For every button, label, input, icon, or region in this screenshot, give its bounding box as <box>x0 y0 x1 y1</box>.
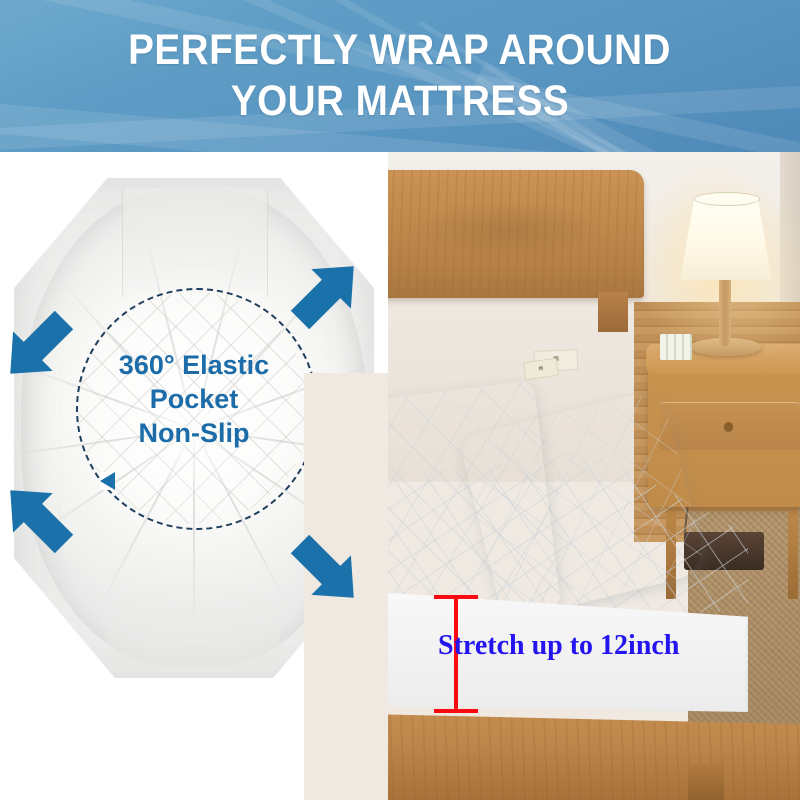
bed-leg <box>688 764 724 800</box>
stretch-label: Stretch up to 12inch <box>438 630 798 662</box>
wood-grain <box>414 200 604 260</box>
circle-label-line-1: 360° Elastic <box>14 348 374 382</box>
header-banner: PERFECTLY WRAP AROUND YOUR MATTRESS <box>0 0 800 152</box>
circle-label-line-3: Non-Slip <box>14 416 374 450</box>
measure-cap-bottom <box>434 709 478 713</box>
product-feature-image: PERFECTLY WRAP AROUND YOUR MATTRESS <box>0 0 800 800</box>
headline-line-2: YOUR MATTRESS <box>231 75 569 127</box>
drawer-knob-icon[interactable] <box>724 422 733 431</box>
circle-label-line-2: Pocket <box>14 382 374 416</box>
wooden-headboard <box>388 170 644 298</box>
lamp-stem <box>719 278 731 346</box>
lamp-shade <box>680 196 772 280</box>
headboard-post <box>598 292 628 332</box>
arrow-down-left-icon <box>0 470 84 563</box>
right-panel: 棉 棉 Stretch up to 12inch <box>388 152 800 800</box>
arrow-up-right-icon <box>280 246 373 339</box>
lamp-shade-top <box>694 192 760 206</box>
pillow-front <box>388 380 561 630</box>
headline-line-1: PERFECTLY WRAP AROUND <box>129 25 672 75</box>
nightstand-leg <box>788 504 798 599</box>
left-panel: 360° Elastic Pocket Non-Slip <box>0 152 388 800</box>
arrow-down-right-icon <box>280 524 373 617</box>
circle-label: 360° Elastic Pocket Non-Slip <box>14 348 374 450</box>
candles <box>660 334 692 360</box>
